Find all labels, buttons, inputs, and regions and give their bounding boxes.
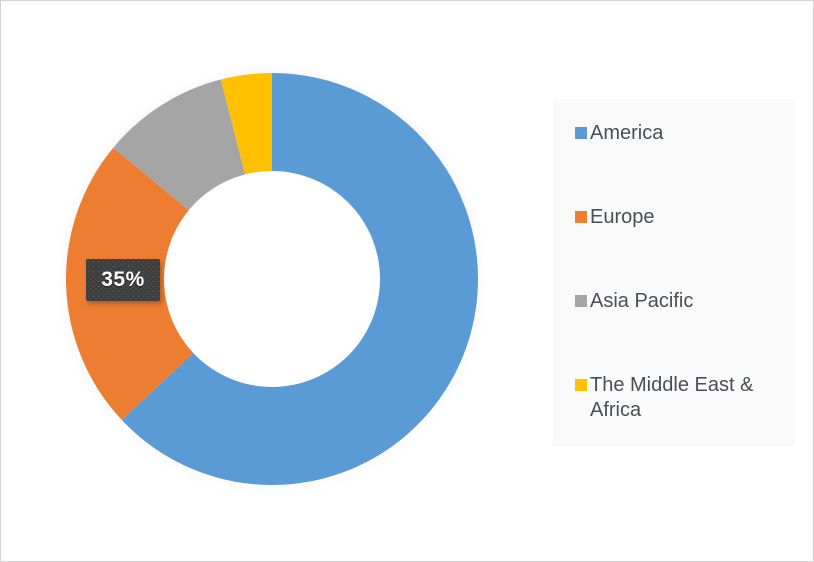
data-label-value: 35% — [101, 268, 145, 292]
legend-swatch-icon-asia-pacific — [575, 295, 587, 307]
donut-chart-area: 35% — [1, 1, 546, 562]
legend-swatch-icon-europe — [575, 211, 587, 223]
legend-swatch-icon-middle-east-africa — [575, 379, 587, 391]
legend-item-america[interactable]: America — [575, 121, 795, 205]
data-label-tooltip: 35% — [86, 259, 160, 301]
legend-swatch-icon-america — [575, 127, 587, 139]
legend-label-asia-pacific: Asia Pacific — [590, 289, 693, 314]
chart-legend: America Europe Asia Pacific The Middle E… — [553, 99, 795, 447]
legend-label-europe: Europe — [590, 205, 655, 230]
legend-item-asia-pacific[interactable]: Asia Pacific — [575, 289, 795, 373]
legend-item-middle-east-africa[interactable]: The Middle East & Africa — [575, 373, 795, 457]
chart-canvas: 35% America Europe Asia Pacific The Midd… — [0, 0, 814, 562]
legend-item-europe[interactable]: Europe — [575, 205, 795, 289]
legend-label-middle-east-africa: The Middle East & Africa — [590, 373, 795, 423]
legend-label-america: America — [590, 121, 663, 146]
